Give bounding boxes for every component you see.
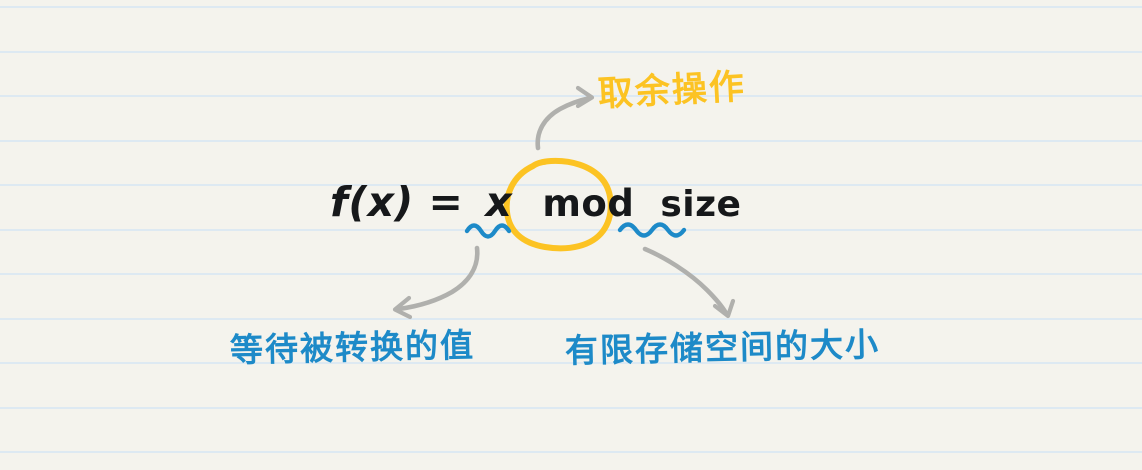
annotation-label-left: 等待被转换的值 (230, 328, 476, 366)
formula-operand-size: size (660, 187, 741, 223)
formula: f(x) =xmodsize (330, 182, 741, 223)
arrow-to-right-label-icon (645, 249, 733, 316)
formula-operator-mod: mod (542, 185, 634, 222)
squiggle-under-size-icon (620, 225, 684, 236)
formula-function-part: f(x) = (330, 178, 463, 226)
rule-line (0, 229, 1142, 231)
ruled-lines (0, 0, 1142, 470)
rule-line (0, 451, 1142, 453)
rule-line (0, 407, 1142, 409)
rule-line (0, 318, 1142, 320)
rule-line (0, 6, 1142, 8)
annotation-label-right: 有限存储空间的大小 (565, 328, 881, 368)
rule-line (0, 140, 1142, 142)
notebook-page: f(x) =xmodsize 取余操作 等待被转换的值 有限存储空间的大小 (0, 0, 1142, 470)
ink-layer (0, 0, 1142, 470)
squiggle-under-x-icon (467, 226, 509, 237)
rule-line (0, 273, 1142, 275)
arrow-to-left-label-icon (395, 248, 477, 317)
formula-operand-x: x (485, 182, 512, 223)
annotation-label-top: 取余操作 (597, 70, 747, 113)
rule-line (0, 51, 1142, 53)
rule-line (0, 95, 1142, 97)
arrow-to-top-label-icon (538, 88, 592, 148)
